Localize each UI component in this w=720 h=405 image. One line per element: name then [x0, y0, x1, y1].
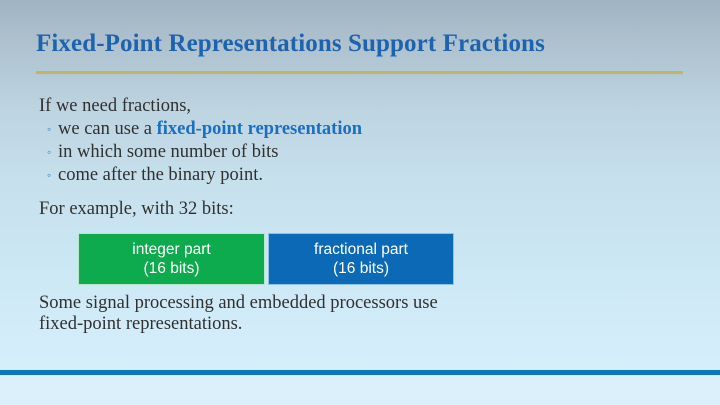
- diagram-field-fractional-size: (16 bits): [333, 259, 389, 278]
- fixed-point-layout-diagram: integer part (16 bits) fractional part (…: [78, 233, 454, 285]
- diagram-field-fractional-label: fractional part: [314, 240, 408, 259]
- diagram-field-integer-label: integer part: [132, 240, 210, 259]
- bullet-item-1-text: we can use a: [58, 119, 157, 139]
- bullet-circle-icon: ◦: [47, 122, 58, 137]
- bullet-item-1-emphasis: fixed-point representation: [157, 119, 362, 139]
- bullet-item-2-text: in which some number of bits: [58, 142, 278, 162]
- bullet-circle-icon: ◦: [47, 145, 58, 160]
- bullet-item-3: ◦come after the binary point.: [47, 165, 263, 186]
- body-intro-line: If we need fractions,: [39, 96, 191, 117]
- diagram-field-integer-part: integer part (16 bits): [78, 233, 265, 285]
- diagram-field-integer-size: (16 bits): [144, 259, 200, 278]
- bullet-item-1: ◦we can use a fixed-point representation: [47, 119, 362, 140]
- example-lead-line: For example, with 32 bits:: [39, 199, 234, 220]
- page-title: Fixed-Point Representations Support Frac…: [36, 30, 686, 58]
- bullet-circle-icon: ◦: [47, 168, 58, 183]
- bullet-item-3-text: come after the binary point.: [58, 165, 263, 185]
- footer-strip: ECE 120: Introduction to Computing © 201…: [0, 375, 720, 405]
- bullet-item-2: ◦in which some number of bits: [47, 142, 278, 163]
- title-underline-rule: [36, 71, 683, 74]
- slide-canvas: Fixed-Point Representations Support Frac…: [0, 0, 720, 405]
- closing-paragraph: Some signal processing and embedded proc…: [39, 293, 469, 335]
- diagram-field-fractional-part: fractional part (16 bits): [268, 233, 454, 285]
